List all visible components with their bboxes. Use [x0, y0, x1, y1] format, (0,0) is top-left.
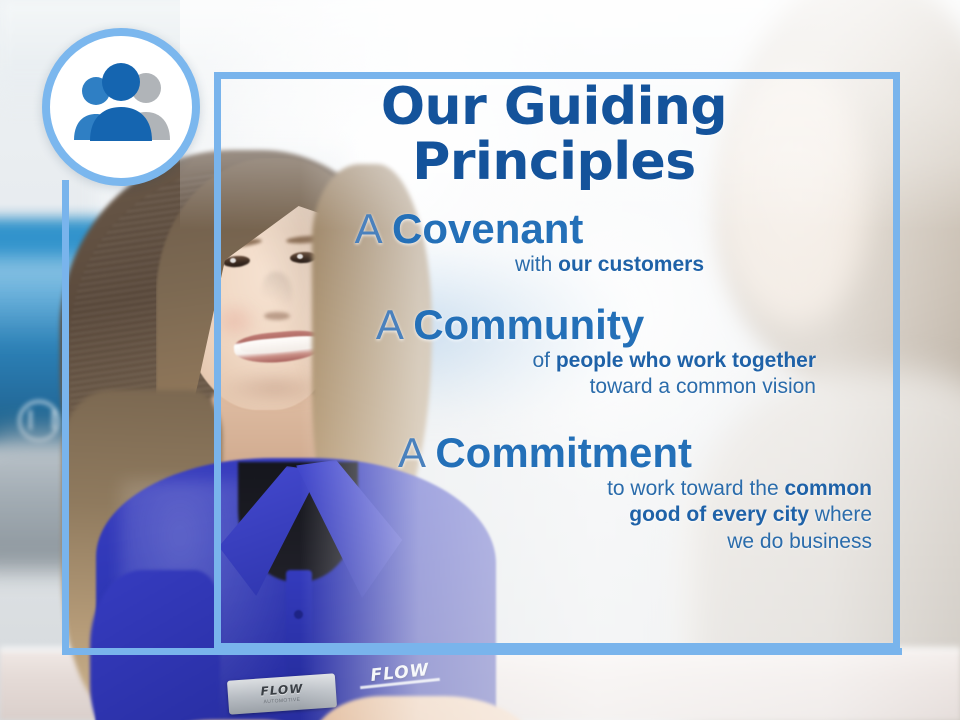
principle-commitment-heading: A Commitment: [236, 429, 872, 476]
principle-commitment-word: Commitment: [435, 429, 692, 476]
principle-commitment-subtext: to work toward the commongood of every c…: [236, 476, 872, 555]
principle-community-subtext: of people who work togethertoward a comm…: [236, 348, 872, 401]
principle-commitment-article: A: [398, 429, 424, 476]
subtext-line: toward a common vision: [236, 374, 816, 400]
decorative-frame-bottom-extension: [62, 648, 902, 655]
principle-covenant-word: Covenant: [392, 205, 583, 252]
subtext-line: good of every city where: [236, 502, 872, 528]
principle-covenant: A Covenant with our customers: [236, 205, 872, 278]
page-title: Our Guiding Principles: [236, 80, 872, 189]
principle-covenant-subtext: with our customers: [236, 252, 872, 278]
employee-shirt-placket: [286, 570, 312, 690]
principle-commitment: A Commitment to work toward the commongo…: [236, 429, 872, 555]
people-group-badge: [42, 28, 200, 186]
employee-shirt-button: [294, 610, 303, 619]
principle-community-article: A: [376, 301, 402, 348]
principle-covenant-heading: A Covenant: [236, 205, 872, 252]
principles-text-block: Our Guiding Principles A Covenant with o…: [236, 80, 872, 561]
principle-community-heading: A Community: [236, 301, 872, 348]
subtext-line: we do business: [236, 529, 872, 555]
employee-sleeve-left: [90, 570, 220, 720]
principle-covenant-article: A: [355, 205, 381, 252]
subtext-line: of people who work together: [236, 348, 816, 374]
promotional-graphic: FLOW AUTOMOTIVE FLOW Our G: [0, 0, 960, 720]
people-group-icon: [70, 62, 174, 146]
principle-community-word: Community: [413, 301, 644, 348]
subtext-line: with our customers: [236, 252, 704, 278]
principle-community: A Community of people who work togethert…: [236, 301, 872, 401]
subtext-line: to work toward the common: [236, 476, 872, 502]
decorative-frame-left-extension: [62, 180, 69, 655]
